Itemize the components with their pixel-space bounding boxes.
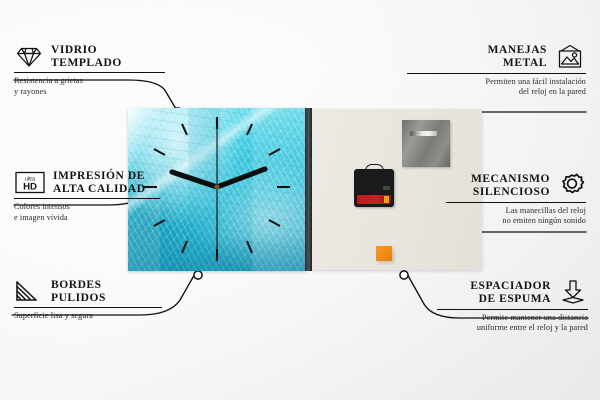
feature-divider	[437, 309, 588, 310]
feature-description: Colores intensos e imagen vívida	[14, 202, 194, 223]
clock-mechanism-box	[354, 169, 394, 207]
clock-side-edge	[305, 108, 312, 271]
feature-header: MANEJAS METAL	[407, 44, 586, 70]
gear-icon	[557, 172, 586, 199]
diamond-icon	[14, 45, 44, 69]
foam-spacer	[376, 246, 392, 261]
feature-divider	[14, 198, 160, 199]
battery-terminal	[384, 196, 389, 203]
clock-center-cap	[214, 184, 219, 189]
feature-manejas-metal: MANEJAS METAL Permiten una fácil instala…	[407, 44, 586, 98]
feature-title: IMPRESIÓN DE ALTA CALIDAD	[53, 170, 146, 195]
feature-title: BORDES PULIDOS	[51, 279, 106, 304]
mechanism-hook	[365, 164, 384, 173]
feature-header: ultra HD IMPRESIÓN DE ALTA CALIDAD	[14, 170, 194, 195]
feature-divider	[446, 202, 586, 203]
feature-vidrio-templado: VIDRIO TEMPLADO Resistencia a grietas y …	[14, 44, 189, 97]
feature-header: ESPACIADOR DE ESPUMA	[437, 279, 588, 306]
feature-impresion-alta-calidad: ultra HD IMPRESIÓN DE ALTA CALIDAD Color…	[14, 170, 194, 223]
press-down-arrow-icon	[558, 279, 588, 306]
metal-hanger-plate	[402, 120, 450, 167]
feature-divider	[14, 307, 162, 308]
feature-header: VIDRIO TEMPLADO	[14, 44, 189, 69]
hanging-picture-icon	[554, 44, 586, 70]
battery-strip	[357, 195, 391, 204]
feature-description: Permiten una fácil instalación del reloj…	[407, 77, 586, 98]
mechanism-dial	[383, 186, 390, 190]
clock-hand-minute	[217, 169, 265, 187]
feature-description: Permite mantener una distancia uniforme …	[437, 313, 588, 334]
feature-espaciador-espuma: ESPACIADOR DE ESPUMA Permite mantener un…	[437, 279, 588, 334]
feature-title: ESPACIADOR DE ESPUMA	[470, 280, 551, 305]
infographic-canvas: VIDRIO TEMPLADO Resistencia a grietas y …	[0, 0, 600, 400]
feature-description: Resistencia a grietas y rayones	[14, 76, 189, 97]
hanger-slot	[410, 131, 437, 136]
feature-header: BORDES PULIDOS	[14, 279, 194, 304]
feature-title: MANEJAS METAL	[488, 44, 547, 69]
feature-title: MECANISMO SILENCIOSO	[471, 173, 550, 198]
feature-header: MECANISMO SILENCIOSO	[446, 172, 586, 199]
ultra-hd-icon: ultra HD	[14, 170, 46, 195]
feature-divider	[14, 72, 165, 73]
ultra-hd-icon-label-bottom: HD	[23, 182, 37, 193]
hatched-edge-icon	[14, 279, 44, 304]
feature-divider	[407, 73, 586, 74]
feature-description: Superficie lisa y segura	[14, 311, 194, 321]
feature-bordes-pulidos: BORDES PULIDOS Superficie lisa y segura	[14, 279, 194, 322]
feature-mecanismo-silencioso: MECANISMO SILENCIOSO Las manecillas del …	[446, 172, 586, 227]
feature-title: VIDRIO TEMPLADO	[51, 44, 122, 69]
feature-description: Las manecillas del reloj no emiten ningú…	[446, 206, 586, 227]
